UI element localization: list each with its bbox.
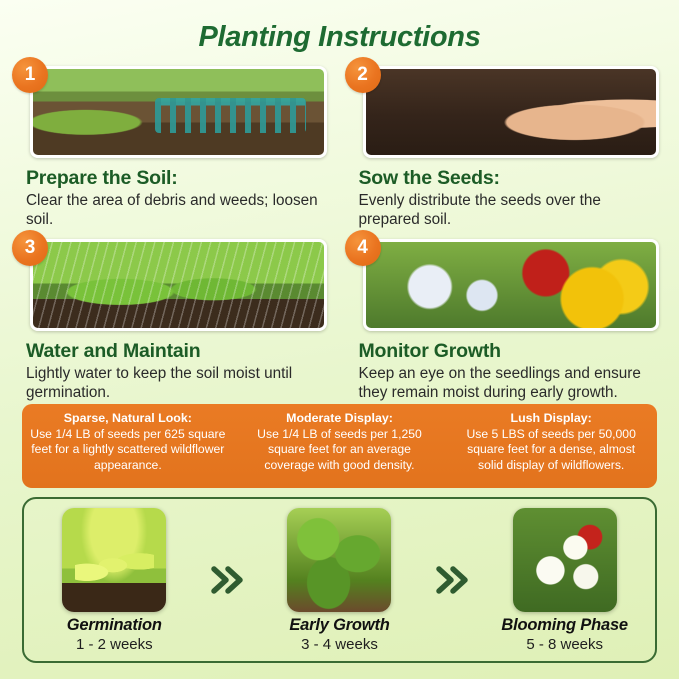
step-number-badge-3: 3 (12, 230, 48, 266)
step-4-photo-wrap: 4 (363, 239, 660, 331)
phase-3-name: Blooming Phase (485, 616, 645, 635)
hands-soil-illustration (366, 69, 657, 155)
step-number-badge-4: 4 (345, 230, 381, 266)
young-leaves-illustration (287, 508, 391, 612)
steps-grid: 1 Prepare the Soil: Clear the area of de… (0, 56, 679, 402)
wildflower-bed-photo (363, 239, 660, 331)
watering-seedlings-illustration (33, 242, 324, 328)
coverage-lush-body: Use 5 LBS of seeds per 50,000 square fee… (466, 427, 635, 471)
soil-rake-photo (30, 66, 327, 158)
step-1-heading: Prepare the Soil: (26, 167, 335, 190)
seed-coverage-band: Sparse, Natural Look: Use 1/4 LB of seed… (22, 404, 657, 488)
step-4-body: Keep an eye on the seedlings and ensure … (359, 364, 664, 402)
coverage-option-sparse: Sparse, Natural Look: Use 1/4 LB of seed… (22, 404, 234, 488)
watering-seedlings-photo (30, 239, 327, 331)
coverage-lush-title: Lush Display: (453, 411, 649, 426)
wildflower-bed-illustration (366, 242, 657, 328)
step-2-heading: Sow the Seeds: (359, 167, 668, 190)
step-3-body: Lightly water to keep the soil moist unt… (26, 364, 331, 402)
step-3-photo-wrap: 3 (30, 239, 327, 331)
sprouts-illustration (62, 508, 166, 612)
step-card-2: 2 Sow the Seeds: Evenly distribute the s… (345, 56, 668, 229)
double-chevron-right-icon-1 (199, 552, 255, 608)
step-card-1: 1 Prepare the Soil: Clear the area of de… (12, 56, 335, 229)
coverage-option-moderate: Moderate Display: Use 1/4 LB of seeds pe… (234, 404, 446, 488)
phase-3-duration: 5 - 8 weeks (485, 636, 645, 653)
step-1-body: Clear the area of debris and weeds; loos… (26, 191, 331, 229)
double-chevron-right-icon-2 (424, 552, 480, 608)
daisy-bloom-illustration (513, 508, 617, 612)
coverage-moderate-title: Moderate Display: (242, 411, 438, 426)
sprouts-photo (62, 508, 166, 612)
timeline-phase-blooming: Blooming Phase 5 - 8 weeks (485, 508, 645, 653)
coverage-option-lush: Lush Display: Use 5 LBS of seeds per 50,… (445, 404, 657, 488)
step-1-photo-wrap: 1 (30, 66, 327, 158)
step-number-badge-1: 1 (12, 57, 48, 93)
soil-rake-illustration (33, 69, 324, 155)
step-card-3: 3 Water and Maintain Lightly water to ke… (12, 229, 335, 402)
daisy-bloom-photo (513, 508, 617, 612)
timeline-phase-early-growth: Early Growth 3 - 4 weeks (259, 508, 419, 653)
step-2-photo-wrap: 2 (363, 66, 660, 158)
phase-2-duration: 3 - 4 weeks (259, 636, 419, 653)
step-4-heading: Monitor Growth (359, 340, 668, 363)
phase-1-name: Germination (34, 616, 194, 635)
coverage-moderate-body: Use 1/4 LB of seeds per 1,250 square fee… (257, 427, 422, 471)
coverage-sparse-body: Use 1/4 LB of seeds per 625 square feet … (30, 427, 225, 471)
step-2-body: Evenly distribute the seeds over the pre… (359, 191, 664, 229)
timeline-phase-germination: Germination 1 - 2 weeks (34, 508, 194, 653)
step-card-4: 4 Monitor Growth Keep an eye on the seed… (345, 229, 668, 402)
step-3-heading: Water and Maintain (26, 340, 335, 363)
young-leaves-photo (287, 508, 391, 612)
page-title: Planting Instructions (0, 0, 679, 56)
growth-timeline: Germination 1 - 2 weeks Early Growth 3 -… (22, 497, 657, 663)
phase-1-duration: 1 - 2 weeks (34, 636, 194, 653)
step-number-badge-2: 2 (345, 57, 381, 93)
coverage-sparse-title: Sparse, Natural Look: (30, 411, 226, 426)
phase-2-name: Early Growth (259, 616, 419, 635)
hands-soil-photo (363, 66, 660, 158)
